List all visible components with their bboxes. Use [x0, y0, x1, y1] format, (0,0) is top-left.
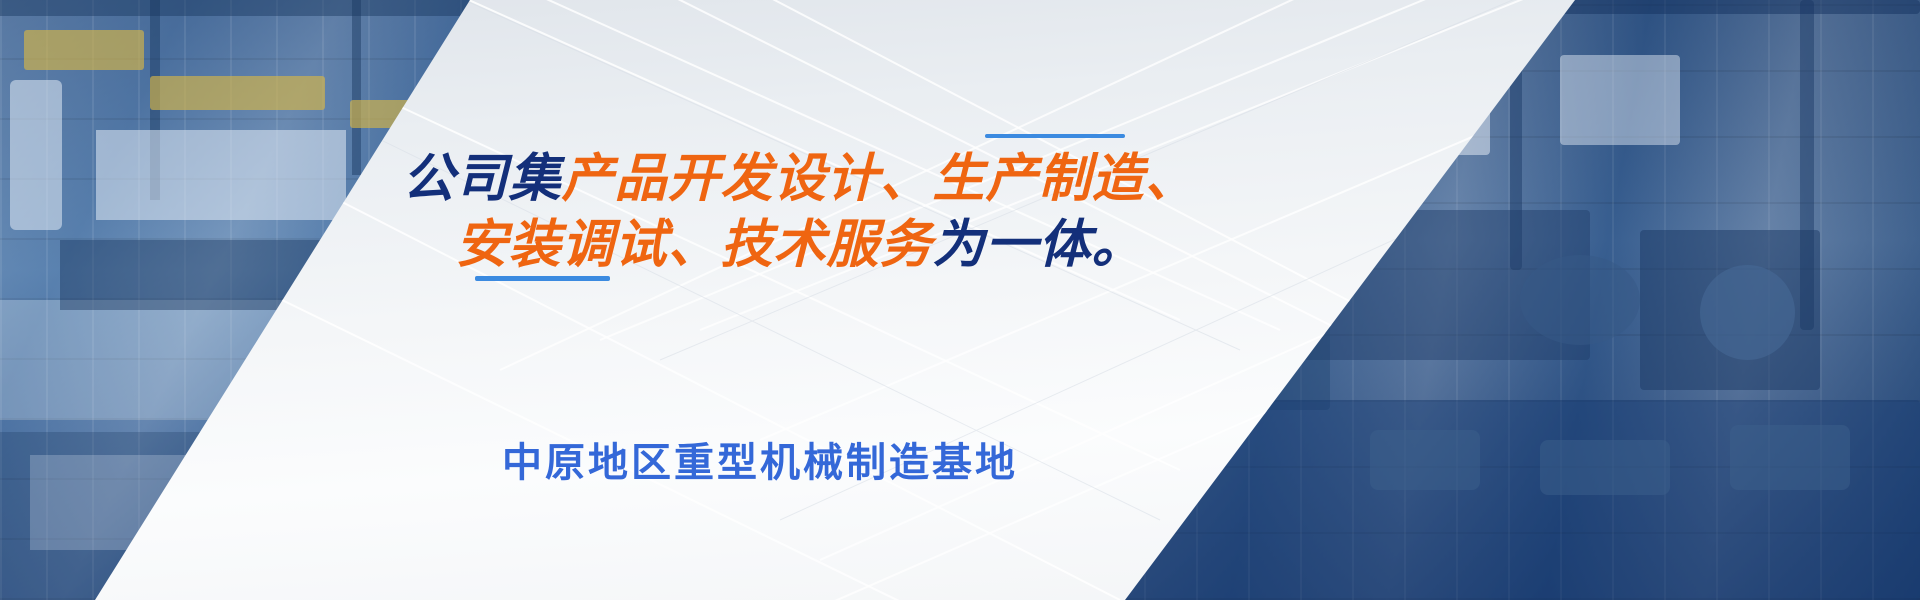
banner-content: 公司集产品开发设计、生产制造、 安装调试、技术服务为一体。 中原地区重型机械制造…	[0, 0, 1920, 600]
accent-line-top	[985, 134, 1125, 138]
headline-line-1: 公司集产品开发设计、生产制造、	[0, 146, 1600, 212]
headline-line-2: 安装调试、技术服务为一体。	[0, 212, 1600, 278]
hero-banner: 公司集产品开发设计、生产制造、 安装调试、技术服务为一体。 中原地区重型机械制造…	[0, 0, 1920, 600]
headline-l1-navy: 公司集	[402, 150, 561, 208]
accent-line-bottom	[475, 276, 610, 281]
headline: 公司集产品开发设计、生产制造、 安装调试、技术服务为一体。	[0, 146, 1600, 278]
headline-l2-orange: 安装调试、技术服务	[455, 216, 932, 274]
headline-l1-orange: 产品开发设计、生产制造、	[562, 150, 1198, 208]
subtitle: 中原地区重型机械制造基地	[0, 430, 1520, 488]
headline-l2-navy: 为一体。	[933, 216, 1145, 274]
